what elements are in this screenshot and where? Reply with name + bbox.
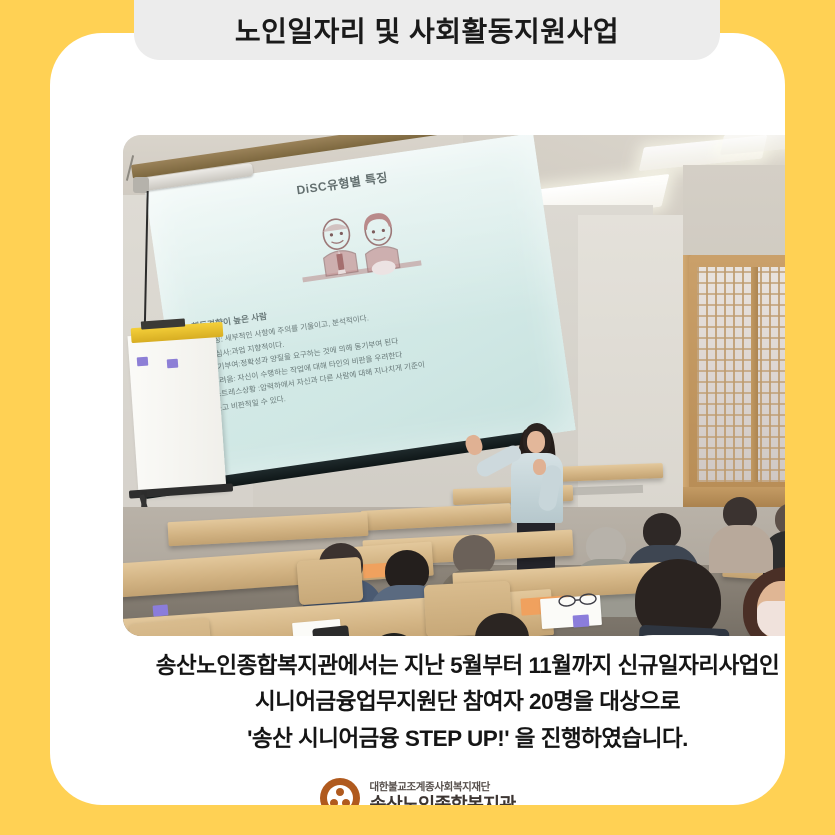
sticky-note (573, 614, 590, 627)
logo-dot (330, 799, 338, 805)
organization-logo: 대한불교조계종사회복지재단 송산노인종합복지관 (50, 778, 785, 805)
sticky-note (137, 357, 149, 367)
lecture-photo: DiSC유형별 특징 (123, 135, 785, 636)
page-title-banner: 노인일자리 및 사회활동지원사업 (134, 0, 720, 60)
attendee-body (709, 525, 773, 573)
window-mullion (751, 267, 758, 482)
presenter-face (527, 431, 545, 453)
caption-line: 시니어금융업무지원단 참여자 20명을 대상으로 (123, 684, 785, 720)
caption-line: '송산 시니어금융 STEP UP!' 을 진행하였습니다. (123, 721, 785, 757)
chair (297, 557, 364, 605)
flipchart-board (128, 330, 227, 496)
face-mask (757, 601, 785, 636)
logo-foundation-name: 대한불교조계종사회복지재단 (370, 782, 516, 793)
logo-dot (336, 788, 344, 796)
lotus-circle-icon (320, 778, 360, 805)
presenter-hand (533, 459, 546, 475)
sticky-note (153, 604, 169, 616)
logo-text: 대한불교조계종사회복지재단 송산노인종합복지관 (370, 782, 516, 805)
sticky-note (167, 359, 179, 369)
caption-line: 송산노인종합복지관에서는 지난 5월부터 11월까지 신규일자리사업인 (123, 648, 785, 684)
logo-center-name: 송산노인종합복지관 (370, 796, 516, 806)
attendee-head (643, 513, 681, 549)
page-title: 노인일자리 및 사회활동지원사업 (235, 10, 619, 50)
caption-block: 송산노인종합복지관에서는 지난 5월부터 11월까지 신규일자리사업인 시니어금… (123, 648, 785, 757)
logo-dot (342, 799, 350, 805)
window-lattice (697, 267, 785, 482)
content-card: DiSC유형별 특징 (50, 33, 785, 805)
